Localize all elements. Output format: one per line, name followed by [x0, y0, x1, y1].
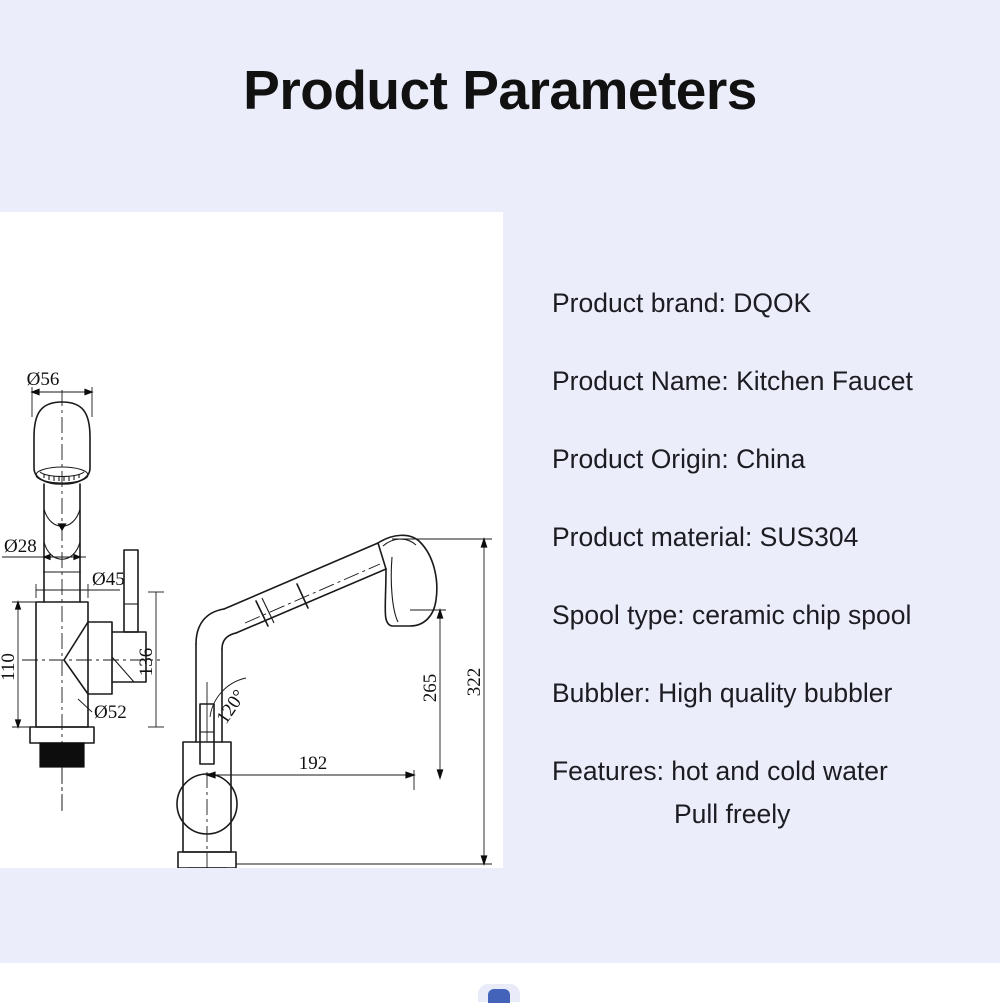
product-spec-list: Product brand: DQOK Product Name: Kitche…	[552, 290, 1000, 830]
dim-label-110: 110	[0, 653, 19, 681]
dim-label-192: 192	[299, 753, 328, 774]
faucet-body-view: 120°	[177, 535, 492, 868]
page-title: Product Parameters	[0, 62, 1000, 120]
spec-row-name: Product Name: Kitchen Faucet	[552, 368, 1000, 446]
dim-height-265: 265	[410, 610, 446, 778]
spec-row-brand: Product brand: DQOK	[552, 290, 1000, 368]
dim-label-120deg: 120°	[213, 686, 251, 728]
spec-row-bubbler: Bubbler: High quality bubbler	[552, 680, 1000, 758]
spec-row-features: Features: hot and cold water	[552, 758, 1000, 785]
dim-label-d56: Ø56	[27, 369, 60, 390]
dim-height-110: 110	[0, 602, 40, 727]
bottom-indicator-dot[interactable]	[488, 989, 510, 1003]
dim-reach-192: 192	[207, 753, 414, 790]
dim-height-136: 136	[136, 592, 164, 727]
faucet-body-left	[22, 550, 160, 727]
technical-drawing-panel: Ø56	[0, 212, 503, 868]
spray-face-hatch	[44, 474, 79, 481]
base-flange-left	[30, 727, 94, 812]
sprayer-head-view: Ø56	[0, 369, 164, 812]
spec-row-material: Product material: SUS304	[552, 524, 1000, 602]
spec-row-spool-type: Spool type: ceramic chip spool	[552, 602, 1000, 680]
dim-label-136: 136	[136, 648, 157, 677]
dim-label-265: 265	[420, 674, 441, 703]
spec-row-origin: Product Origin: China	[552, 446, 1000, 524]
spout-arm	[224, 543, 386, 633]
product-parameters-page: Product Parameters Ø56	[0, 0, 1000, 1000]
dim-label-d45: Ø45	[92, 569, 125, 590]
dim-label-d52: Ø52	[94, 702, 127, 723]
leader-d52	[78, 699, 92, 712]
faucet-dimension-drawing: Ø56	[0, 212, 503, 868]
dim-label-d28: Ø28	[4, 536, 37, 557]
spec-row-features-line2: Pull freely	[552, 785, 1000, 830]
spout-head	[378, 535, 437, 626]
dim-label-322: 322	[464, 668, 485, 697]
